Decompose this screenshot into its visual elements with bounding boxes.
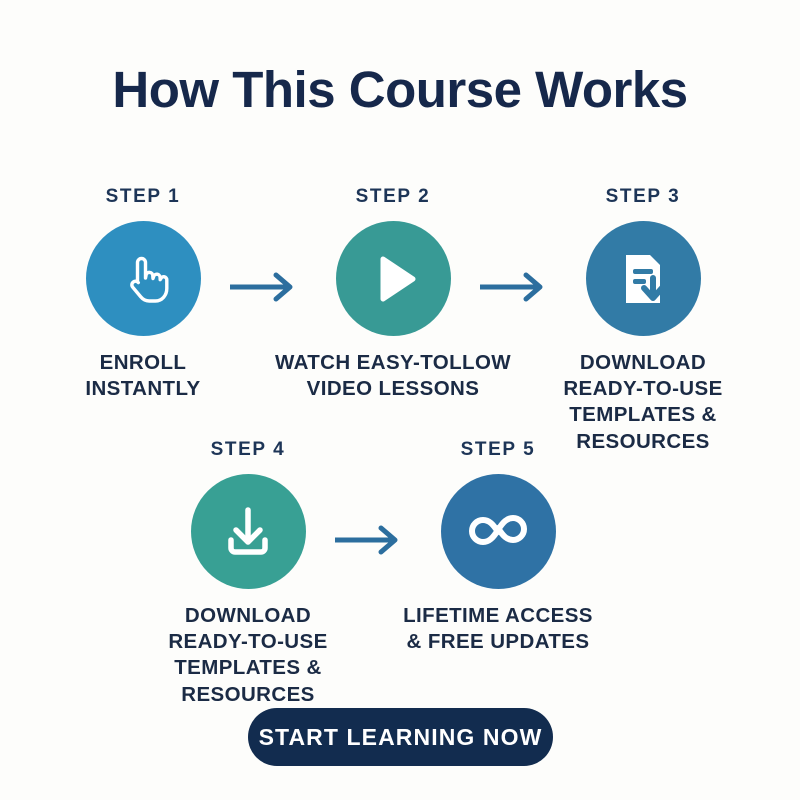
step-card-5: STEP 5 LIFETIME ACCESS & FREE UPDATES bbox=[373, 438, 623, 655]
step-icon-circle-3 bbox=[586, 221, 701, 336]
step-label-2: STEP 2 bbox=[268, 185, 518, 209]
step-icon-circle-1 bbox=[86, 221, 201, 336]
infographic-canvas: How This Course Works STEP 1 ENROLL INST… bbox=[0, 0, 800, 800]
step-caption-1: ENROLL INSTANTLY bbox=[18, 350, 268, 402]
step-label-4: STEP 4 bbox=[123, 438, 373, 462]
step-caption-5: LIFETIME ACCESS & FREE UPDATES bbox=[373, 603, 623, 655]
step-card-3: STEP 3 DOWNLOAD READY-TO-USE TEMPLATES &… bbox=[518, 185, 768, 455]
infinity-icon bbox=[464, 509, 532, 555]
play-icon bbox=[361, 247, 425, 311]
start-learning-now-button[interactable]: START LEARNING NOW bbox=[248, 708, 553, 766]
step-label-1: STEP 1 bbox=[18, 185, 268, 209]
pointing-hand-icon bbox=[111, 247, 175, 311]
page-title: How This Course Works bbox=[0, 62, 800, 118]
step-icon-circle-4 bbox=[191, 474, 306, 589]
step-icon-circle-2 bbox=[336, 221, 451, 336]
step-label-5: STEP 5 bbox=[373, 438, 623, 462]
step-icon-circle-5 bbox=[441, 474, 556, 589]
step-card-4: STEP 4 DOWNLOAD READY-TO-USE TEMPLATES &… bbox=[123, 438, 373, 708]
step-caption-4: DOWNLOAD READY-TO-USE TEMPLATES & RESOUR… bbox=[123, 603, 373, 708]
document-download-icon bbox=[612, 248, 674, 310]
download-tray-icon bbox=[216, 500, 280, 564]
step-caption-2: WATCH EASY-TOLLOW VIDEO LESSONS bbox=[268, 350, 518, 402]
step-label-3: STEP 3 bbox=[518, 185, 768, 209]
